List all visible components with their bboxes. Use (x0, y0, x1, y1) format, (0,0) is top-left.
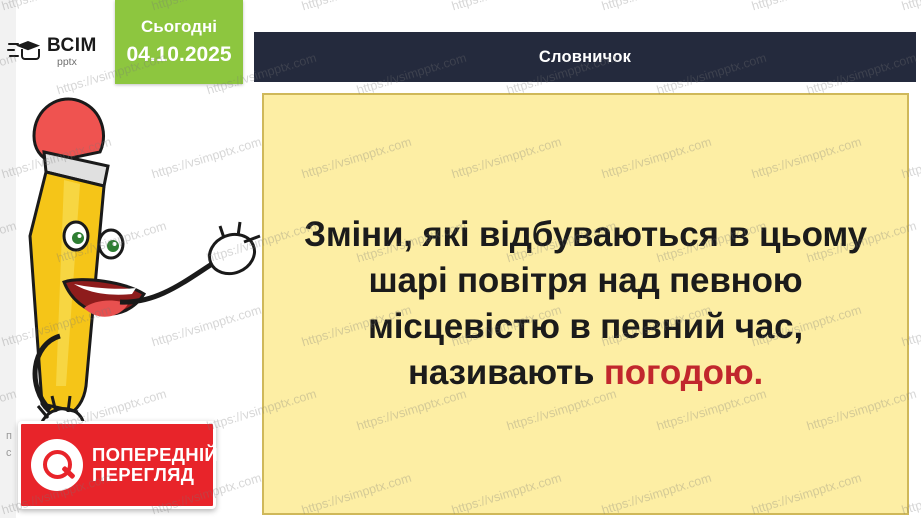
preview-button-labels: ПОПЕРЕДНІЙ ПЕРЕГЛЯД (92, 445, 218, 485)
date-badge: Сьогодні 04.10.2025 (115, 0, 243, 84)
speed-line-2 (7, 49, 15, 51)
graduation-cap-icon (8, 37, 42, 67)
definition-card-inner: Зміни, які відбуваються в цьому шарі пов… (264, 212, 907, 397)
watermark-text: https://vsimpptx.com (900, 0, 921, 13)
preview-button[interactable]: ПОПЕРЕДНІЙ ПЕРЕГЛЯД (18, 421, 216, 509)
page-title: Словничок (539, 48, 631, 67)
logo-name: ВСІМ (47, 36, 97, 55)
watermark-text: https://vsimpptx.com (300, 0, 413, 13)
brand-logo: ВСІМ pptx (8, 30, 120, 74)
watermark-text: https://vsimpptx.com (750, 0, 863, 13)
preview-button-line-2: ПЕРЕГЛЯД (92, 465, 218, 485)
watermark-text: https://vsimpptx.com (450, 0, 563, 13)
logo-text: ВСІМ pptx (47, 36, 97, 68)
date-badge-label: Сьогодні (141, 17, 217, 37)
definition-text-accent: погодою. (604, 353, 763, 392)
slide-header-bar: Словничок (254, 32, 916, 82)
speed-line-1 (8, 43, 19, 45)
watermark-text: https://vsimpptx.com (600, 0, 713, 13)
definition-card: Зміни, які відбуваються в цьому шарі пов… (262, 93, 909, 515)
date-badge-value: 04.10.2025 (126, 43, 231, 67)
definition-text: Зміни, які відбуваються в цьому шарі пов… (298, 212, 873, 397)
logo-suffix: pptx (57, 57, 97, 68)
definition-text-main: Зміни, які відбуваються в цьому шарі пов… (304, 215, 867, 393)
speed-line-3 (9, 55, 19, 57)
cap-bottom-shape (21, 49, 40, 60)
preview-button-line-1: ПОПЕРЕДНІЙ (92, 445, 218, 465)
magnifier-icon (31, 439, 83, 491)
slide: ВСІМ pptx Сьогодні 04.10.2025 Словничок … (0, 0, 921, 518)
